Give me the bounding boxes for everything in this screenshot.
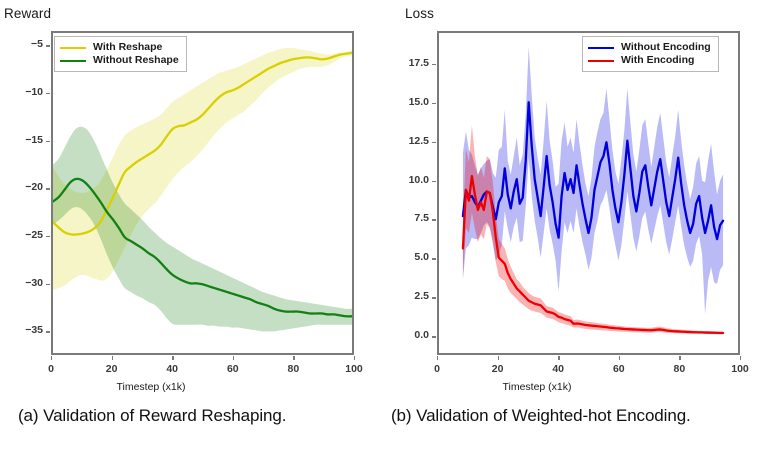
legend-swatch-without-reshape: [60, 60, 86, 62]
y-tick-mark: [46, 188, 50, 189]
x-tick-label: 80: [273, 363, 313, 375]
y-tick-label: −10: [11, 86, 43, 98]
y-tick-label: 0.0: [397, 329, 429, 341]
x-tick-label: 100: [720, 363, 760, 375]
x-tick-label: 20: [92, 363, 132, 375]
legend-swatch-without-encoding: [588, 47, 614, 49]
x-tick-mark: [498, 356, 499, 360]
x-tick-label: 60: [213, 363, 253, 375]
legend-item-without-encoding[interactable]: Without Encoding: [588, 41, 711, 54]
panel-a-ylabel: Reward: [4, 6, 51, 21]
legend-swatch-with-reshape: [60, 47, 86, 49]
y-tick-mark: [432, 258, 436, 259]
x-tick-mark: [51, 356, 52, 360]
legend-item-with-encoding[interactable]: With Encoding: [588, 54, 711, 67]
y-tick-mark: [432, 64, 436, 65]
y-tick-mark: [432, 142, 436, 143]
figure-container: Reward With Reshape Without Reshape −5−1…: [0, 0, 765, 456]
y-tick-mark: [432, 219, 436, 220]
panel-a-caption: (a) Validation of Reward Reshaping.: [18, 406, 286, 426]
y-tick-mark: [46, 141, 50, 142]
x-tick-mark: [558, 356, 559, 360]
x-tick-mark: [740, 356, 741, 360]
y-tick-label: −25: [11, 229, 43, 241]
y-tick-label: −30: [11, 277, 43, 289]
panel-reward-reshaping: Reward With Reshape Without Reshape −5−1…: [0, 0, 382, 456]
panel-b-chart-svg: [439, 33, 738, 353]
y-tick-label: 5.0: [397, 251, 429, 263]
x-tick-label: 0: [417, 363, 457, 375]
y-tick-label: −15: [11, 134, 43, 146]
panel-b-xlabel: Timestep (x1k): [477, 381, 597, 393]
y-tick-mark: [432, 181, 436, 182]
y-tick-mark: [46, 45, 50, 46]
x-tick-mark: [112, 356, 113, 360]
x-tick-label: 40: [152, 363, 192, 375]
panel-b-ylabel: Loss: [405, 6, 434, 21]
y-tick-label: 2.5: [397, 290, 429, 302]
legend-label-without-reshape: Without Reshape: [93, 54, 179, 67]
y-tick-mark: [46, 331, 50, 332]
x-tick-mark: [619, 356, 620, 360]
x-tick-label: 20: [478, 363, 518, 375]
x-tick-label: 80: [659, 363, 699, 375]
x-tick-label: 0: [31, 363, 71, 375]
panel-a-xlabel: Timestep (x1k): [91, 381, 211, 393]
x-tick-mark: [437, 356, 438, 360]
panel-b-legend: Without Encoding With Encoding: [582, 36, 719, 72]
y-tick-label: 15.0: [397, 96, 429, 108]
y-tick-label: 7.5: [397, 212, 429, 224]
y-tick-mark: [432, 297, 436, 298]
x-tick-mark: [679, 356, 680, 360]
x-tick-label: 100: [334, 363, 374, 375]
x-tick-label: 60: [599, 363, 639, 375]
panel-b-caption: (b) Validation of Weighted-hot Encoding.: [391, 406, 691, 426]
y-tick-mark: [46, 284, 50, 285]
y-tick-label: −20: [11, 181, 43, 193]
legend-label-with-encoding: With Encoding: [621, 54, 694, 67]
x-tick-mark: [172, 356, 173, 360]
legend-swatch-with-encoding: [588, 60, 614, 62]
panel-a-legend: With Reshape Without Reshape: [54, 36, 187, 72]
x-tick-label: 40: [538, 363, 578, 375]
legend-item-with-reshape[interactable]: With Reshape: [60, 41, 179, 54]
y-tick-label: −35: [11, 324, 43, 336]
legend-label-with-reshape: With Reshape: [93, 41, 162, 54]
panel-b-plot-area: [437, 31, 740, 355]
x-tick-mark: [233, 356, 234, 360]
y-tick-label: −5: [11, 38, 43, 50]
panel-a-chart-svg: [53, 33, 352, 353]
y-tick-label: 10.0: [397, 174, 429, 186]
y-tick-mark: [46, 236, 50, 237]
x-tick-mark: [293, 356, 294, 360]
y-tick-mark: [432, 103, 436, 104]
y-tick-mark: [46, 93, 50, 94]
y-tick-label: 17.5: [397, 57, 429, 69]
legend-label-without-encoding: Without Encoding: [621, 41, 711, 54]
x-tick-mark: [354, 356, 355, 360]
panel-a-plot-area: [51, 31, 354, 355]
panel-weighted-hot-encoding: Loss Without Encoding With Encoding 17.5…: [383, 0, 765, 456]
y-tick-label: 12.5: [397, 135, 429, 147]
legend-item-without-reshape[interactable]: Without Reshape: [60, 54, 179, 67]
y-tick-mark: [432, 336, 436, 337]
